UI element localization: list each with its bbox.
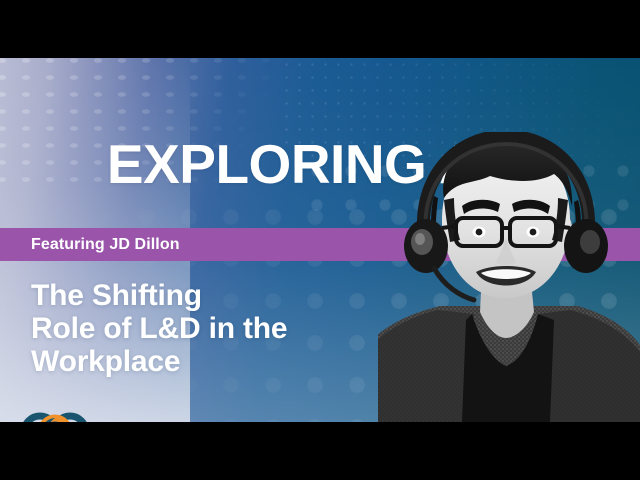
interlocking-rings-logo <box>18 409 92 422</box>
letterbox-bar-bottom <box>0 422 640 480</box>
letterbox-bar-top <box>0 0 640 58</box>
presenter-photo <box>378 132 640 422</box>
subtitle-line-1: The Shifting <box>31 279 401 312</box>
subtitle-block: The Shifting Role of L&D in the Workplac… <box>31 279 401 378</box>
featuring-label: Featuring JD Dillon <box>31 234 180 255</box>
subtitle-line-3: Workplace <box>31 345 401 378</box>
subtitle-line-2: Role of L&D in the <box>31 312 401 345</box>
video-thumbnail-frame: Featuring JD Dillon EXPLORING AI The Shi… <box>0 0 640 480</box>
thumbnail-artwork: Featuring JD Dillon EXPLORING AI The Shi… <box>0 58 640 422</box>
